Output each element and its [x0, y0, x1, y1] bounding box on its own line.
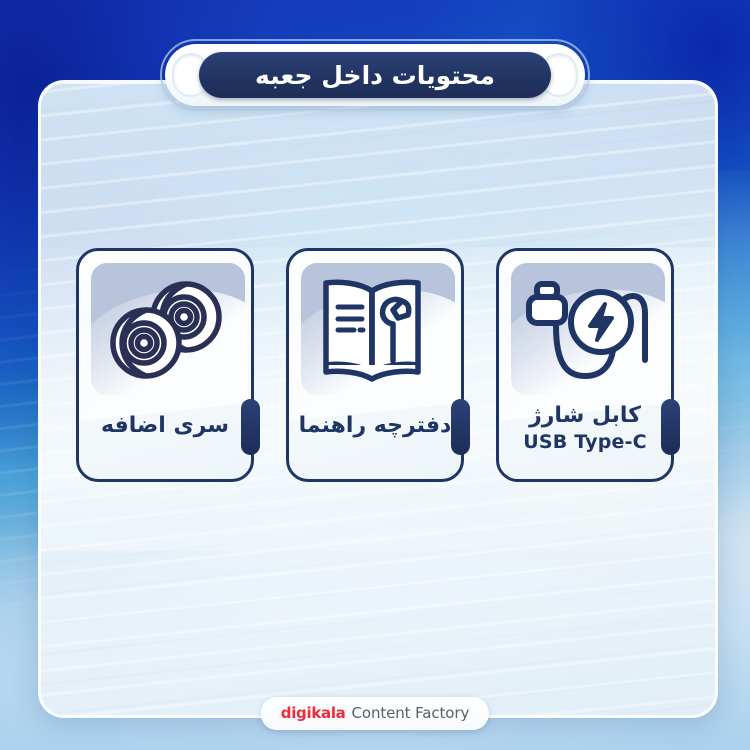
card-surface — [289, 251, 461, 479]
brand-suffix: Content Factory — [352, 704, 470, 722]
list-item-label-fa: کابل شارژ — [499, 403, 671, 428]
page-title: محتویات داخل جعبه — [255, 63, 495, 88]
footer-brand-badge: digikala Content Factory — [261, 697, 489, 730]
box-contents-list: کابل شارژ USB Type-C — [0, 248, 750, 482]
card-label-group: سری اضافه — [79, 413, 251, 438]
card-label-group: دفترچه راهنما — [289, 413, 461, 438]
list-item-label-en: USB Type-C — [499, 431, 671, 453]
card-tab-accent — [241, 399, 260, 455]
header-frame: محتویات داخل جعبه — [165, 44, 585, 106]
list-item[interactable]: کابل شارژ USB Type-C — [496, 248, 674, 482]
card-surface — [79, 251, 251, 479]
header-banner: محتویات داخل جعبه — [165, 44, 585, 106]
list-item-label-fa: سری اضافه — [79, 413, 251, 438]
list-item-label-fa: دفترچه راهنما — [289, 413, 461, 438]
card-tab-accent — [451, 399, 470, 455]
list-item[interactable]: سری اضافه — [76, 248, 254, 482]
header-title-pill: محتویات داخل جعبه — [199, 52, 551, 98]
poster-canvas: محتویات داخل جعبه — [0, 0, 750, 750]
eartips-icon — [79, 261, 251, 401]
usb-c-cable-icon — [499, 261, 671, 401]
card-label-group: کابل شارژ USB Type-C — [499, 403, 671, 453]
card-tab-accent — [661, 399, 680, 455]
brand-name: digikala — [281, 704, 346, 722]
manual-book-icon — [289, 261, 461, 401]
list-item[interactable]: دفترچه راهنما — [286, 248, 464, 482]
